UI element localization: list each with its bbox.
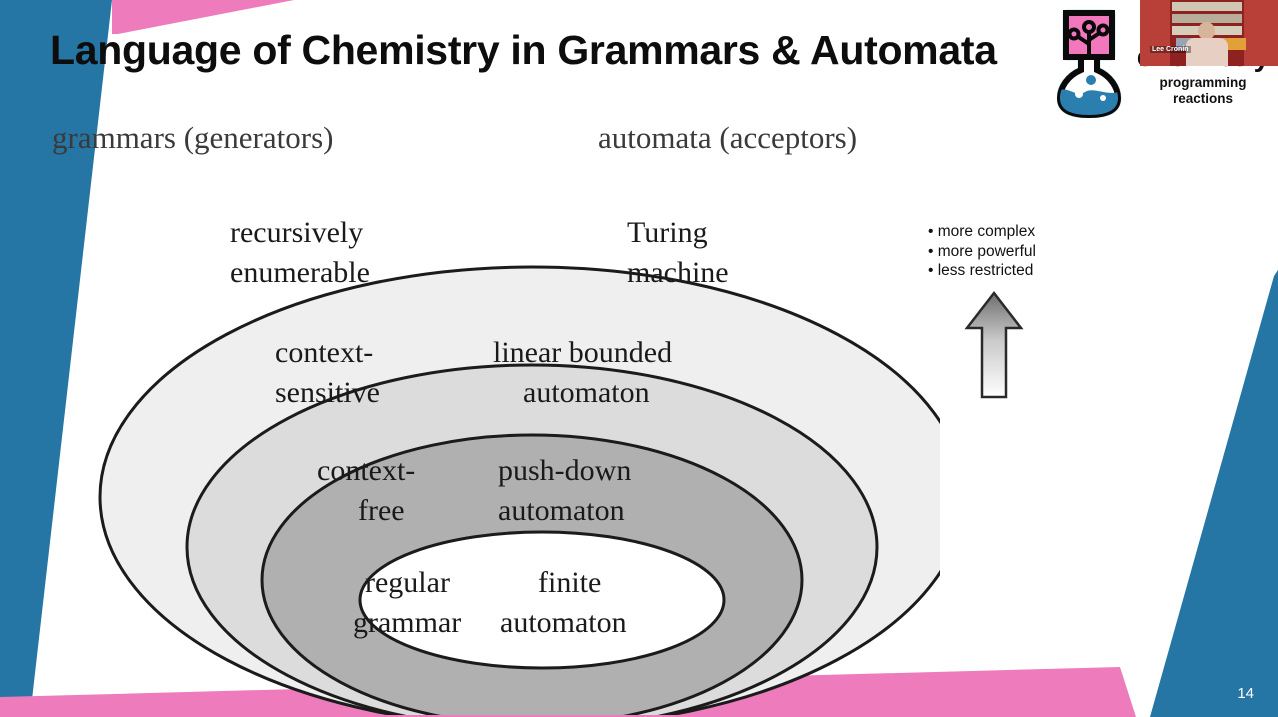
- label-ctx-free-1: context-: [317, 454, 415, 487]
- webcam-name-tag: Lee Cronin: [1150, 46, 1191, 53]
- page-number: 14: [1237, 685, 1254, 702]
- webcam-bg-right: [1244, 0, 1278, 66]
- flask-circuit-icon: [1057, 6, 1125, 118]
- label-pda-2: automaton: [498, 494, 625, 527]
- ellipse-regular: [360, 532, 724, 668]
- label-regular-2: grammar: [353, 606, 461, 639]
- up-arrow-icon: [963, 290, 1025, 400]
- label-pda-1: push-down: [498, 454, 631, 487]
- right-blue-band: [1078, 270, 1278, 717]
- complexity-arrow: [963, 290, 1025, 405]
- label-finite-2: automaton: [500, 606, 627, 639]
- webcam-video-overlay[interactable]: Lee Cronin: [1140, 0, 1278, 66]
- page-title: Language of Chemistry in Grammars & Auto…: [50, 27, 997, 74]
- label-ctx-sensitive-2: sensitive: [275, 376, 380, 409]
- slide-canvas: Language of Chemistry in Grammars & Auto…: [0, 0, 1278, 717]
- label-ctx-sensitive-1: context-: [275, 336, 373, 369]
- note-bullet-2: • less restricted: [928, 261, 1036, 281]
- label-ctx-free-2: free: [358, 494, 405, 527]
- note-bullet-1: • more powerful: [928, 242, 1036, 262]
- label-regular-1: regular: [365, 566, 450, 599]
- label-recursively-2: enumerable: [230, 256, 370, 289]
- brand-sub-reactions: reactions: [1127, 91, 1278, 107]
- chomsky-hierarchy-diagram: grammars (generators) automata (acceptor…: [40, 115, 940, 715]
- label-finite-1: finite: [538, 566, 601, 599]
- brand-sub-programming: programming: [1127, 75, 1278, 91]
- webcam-bg-left: [1140, 0, 1170, 66]
- diagram-header-grammars: grammars (generators): [52, 120, 333, 155]
- label-lba-1: linear bounded: [493, 336, 672, 369]
- diagram-header-automata: automata (acceptors): [598, 120, 857, 155]
- webcam-person-body: [1186, 38, 1228, 66]
- label-recursively-1: recursively: [230, 216, 363, 249]
- label-turing-1: Turing: [627, 216, 708, 249]
- label-lba-2: automaton: [523, 376, 650, 409]
- notes-bullet-list: • more complex • more powerful • less re…: [928, 222, 1036, 281]
- webcam-shelf-1: [1172, 2, 1242, 11]
- label-turing-2: machine: [627, 256, 729, 289]
- note-bullet-0: • more complex: [928, 222, 1036, 242]
